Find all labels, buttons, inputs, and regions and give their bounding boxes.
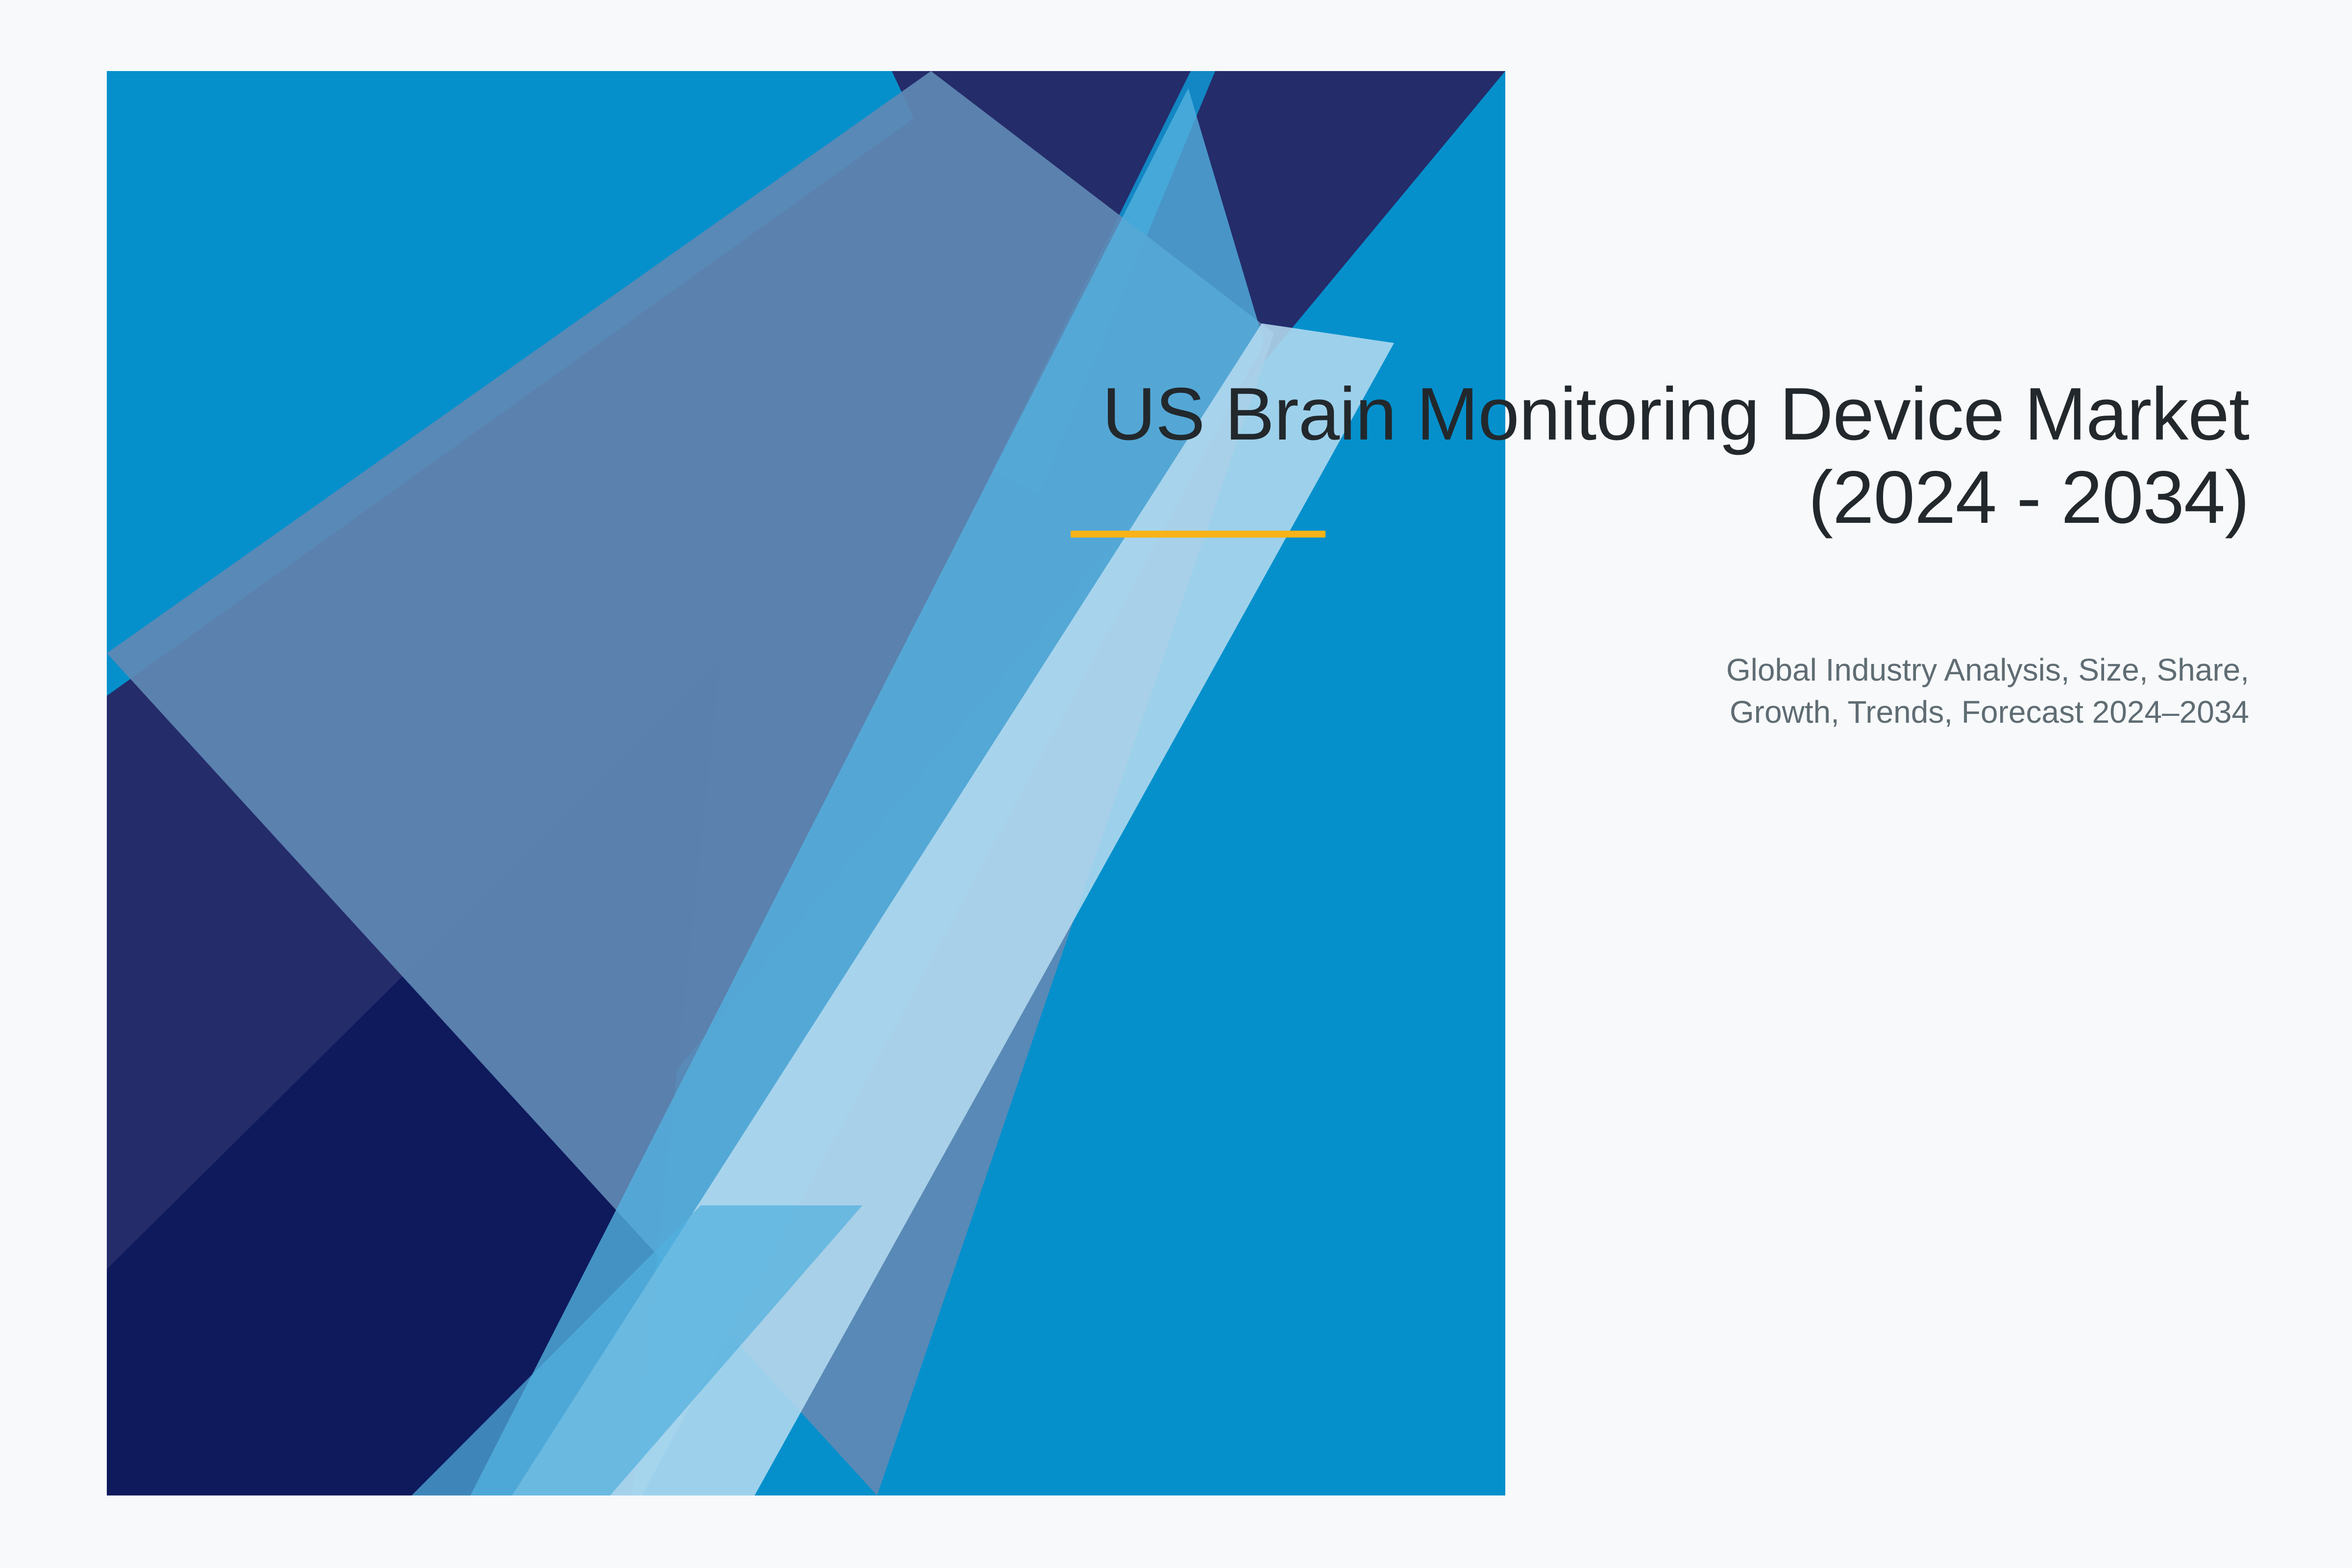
abstract-geometric-cover-graphic <box>0 0 2352 1568</box>
yellow-underline-accent <box>1071 531 1325 538</box>
title-block: US Brain Monitoring Device Market (2024 … <box>931 372 2249 539</box>
cover-page: US Brain Monitoring Device Market (2024 … <box>0 0 2352 1568</box>
page-subtitle: Global Industry Analysis, Size, Share, G… <box>931 649 2249 734</box>
page-title: US Brain Monitoring Device Market (2024 … <box>931 372 2249 539</box>
